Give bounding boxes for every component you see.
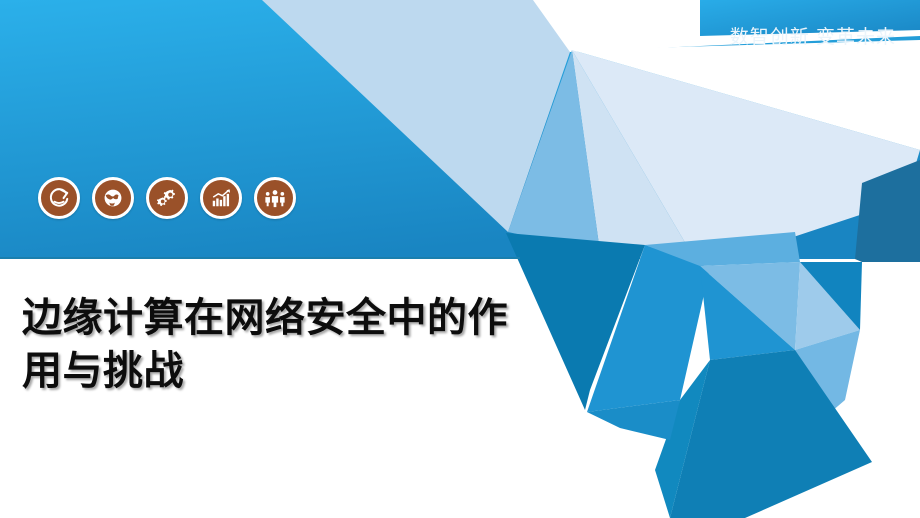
poly-bottom-slab-edge [655,360,710,518]
gears-icon [156,187,178,209]
slide-background [0,0,920,518]
poly-deep-right [800,262,862,330]
poly-pale-right-wing [795,330,860,430]
poly-pale-upper-left-b [572,0,700,50]
poly-pale-fan-main [572,50,920,268]
slide-title: 边缘计算在网络安全中的作用与挑战 [22,292,542,398]
poly-mid-blue-left [508,50,600,252]
background-artwork [0,0,920,518]
icon-badge-globe[interactable] [92,177,134,219]
poly-dark-right-edge [855,160,920,259]
icon-badge-gears[interactable] [146,177,188,219]
people-group-icon [264,187,286,209]
poly-white-wedge-b [540,0,572,50]
poly-pale-upper-left [262,0,585,232]
poly-bottom-slab [670,350,872,518]
poly-mid-center-b [700,266,795,360]
icon-badge-refresh[interactable] [38,177,80,219]
icon-badge-people[interactable] [254,177,296,219]
refresh-cycle-icon [48,187,70,209]
poly-blue-left-lower [587,245,710,412]
poly-deep-right-b [855,259,920,262]
poly-pale-center-right [795,262,860,350]
icon-strip [38,177,296,219]
poly-pale-fan-mid [572,40,920,150]
poly-connector [587,400,680,440]
bar-chart-growth-icon [210,187,232,209]
poly-pale-fan-left [572,50,700,268]
title-block: 边缘计算在网络安全中的作用与挑战 [22,292,542,398]
slide-tagline: 数智创新 变革未来 [730,28,896,47]
poly-mid-center [700,262,800,350]
band-bottom-edge [0,257,520,259]
globe-icon [102,187,124,209]
title-slide: 数智创新 变革未来 [0,0,920,518]
poly-light-mid [645,232,800,266]
icon-badge-chart[interactable] [200,177,242,219]
